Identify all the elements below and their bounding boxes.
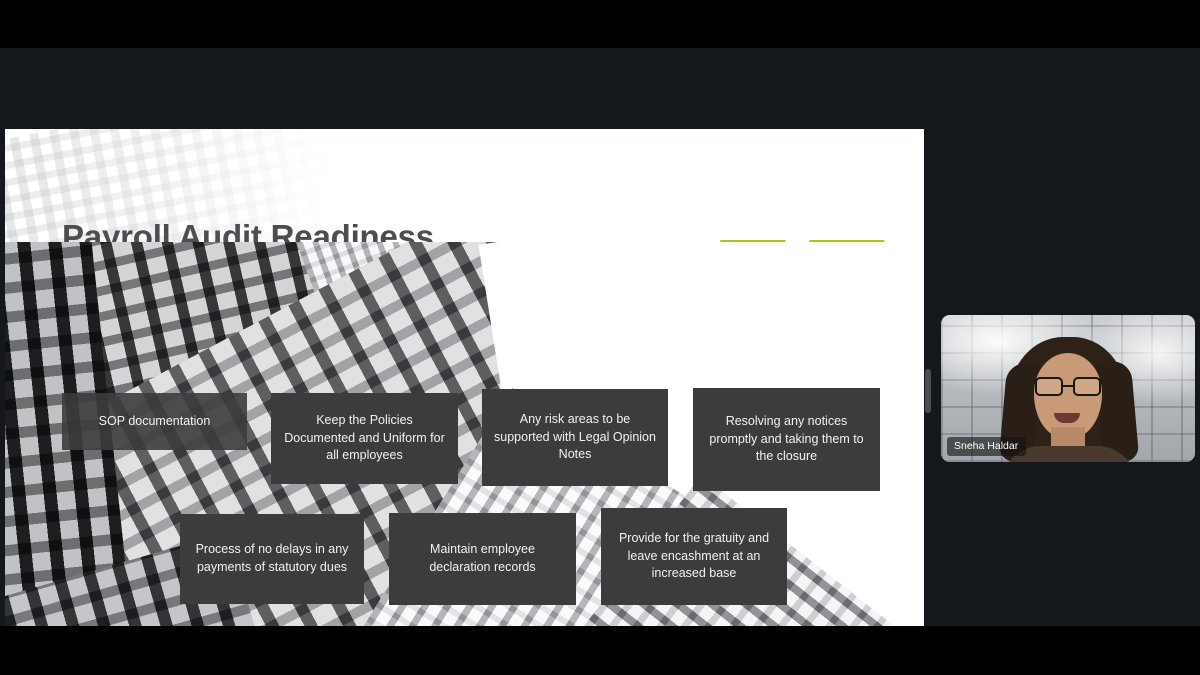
participant-video-tile[interactable]: Sneha Haldar: [941, 315, 1195, 462]
shared-slide[interactable]: Payroll Audit Readiness Greenvissage: [5, 129, 924, 645]
glasses-lens-left: [1035, 377, 1063, 396]
panel-resize-handle[interactable]: [925, 369, 931, 413]
callout-box: Maintain employee declaration records: [389, 513, 576, 605]
callout-box: Resolving any notices promptly and takin…: [693, 388, 880, 491]
participant-name-label: Sneha Haldar: [947, 437, 1026, 456]
glasses-bridge: [1063, 385, 1073, 387]
callout-box: Provide for the gratuity and leave encas…: [601, 508, 787, 605]
meeting-canvas: Payroll Audit Readiness Greenvissage: [0, 48, 1200, 626]
glasses-icon: [1035, 377, 1101, 396]
callout-box: Keep the Policies Documented and Uniform…: [271, 393, 458, 484]
screen-capture: Payroll Audit Readiness Greenvissage: [0, 0, 1200, 675]
callout-box: Process of no delays in any payments of …: [180, 514, 364, 604]
letterbox-bottom: [0, 626, 1200, 675]
glasses-lens-right: [1073, 377, 1101, 396]
callout-box: Any risk areas to be supported with Lega…: [482, 389, 668, 486]
callout-box: SOP documentation: [62, 393, 247, 450]
letterbox-top: [0, 0, 1200, 48]
